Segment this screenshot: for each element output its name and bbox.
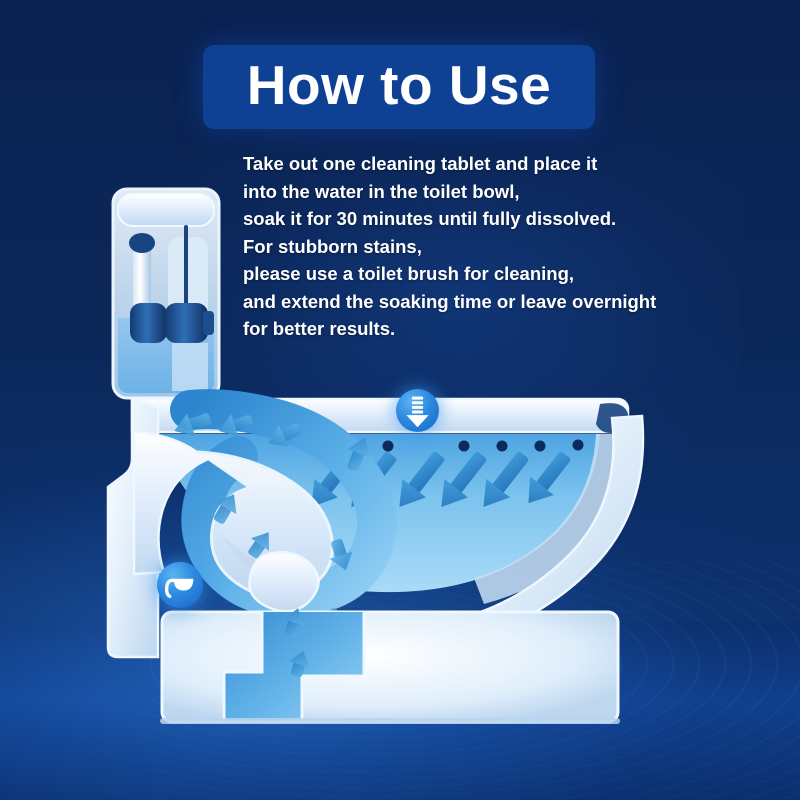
instruction-line: for better results. <box>243 315 713 343</box>
instruction-line: please use a toilet brush for cleaning, <box>243 260 713 288</box>
instruction-line: soak it for 30 minutes until fully disso… <box>243 205 713 233</box>
instruction-line: and extend the soaking time or leave ove… <box>243 288 713 316</box>
instruction-line: into the water in the toilet bowl, <box>243 178 713 206</box>
down-arrow-badge <box>391 384 444 437</box>
instruction-line: For stubborn stains, <box>243 233 713 261</box>
page-title: How to Use <box>203 45 595 129</box>
instructions-block: Take out one cleaning tablet and place i… <box>243 150 713 343</box>
instruction-line: Take out one cleaning tablet and place i… <box>243 150 713 178</box>
siphon-icon <box>160 565 199 604</box>
how-to-use-infographic: How to Use Take out one cleaning tablet … <box>0 0 800 800</box>
background-floor <box>0 622 800 800</box>
siphon-badge <box>152 557 208 613</box>
down-arrow-icon <box>399 392 436 429</box>
title-banner: How to Use <box>203 45 595 129</box>
